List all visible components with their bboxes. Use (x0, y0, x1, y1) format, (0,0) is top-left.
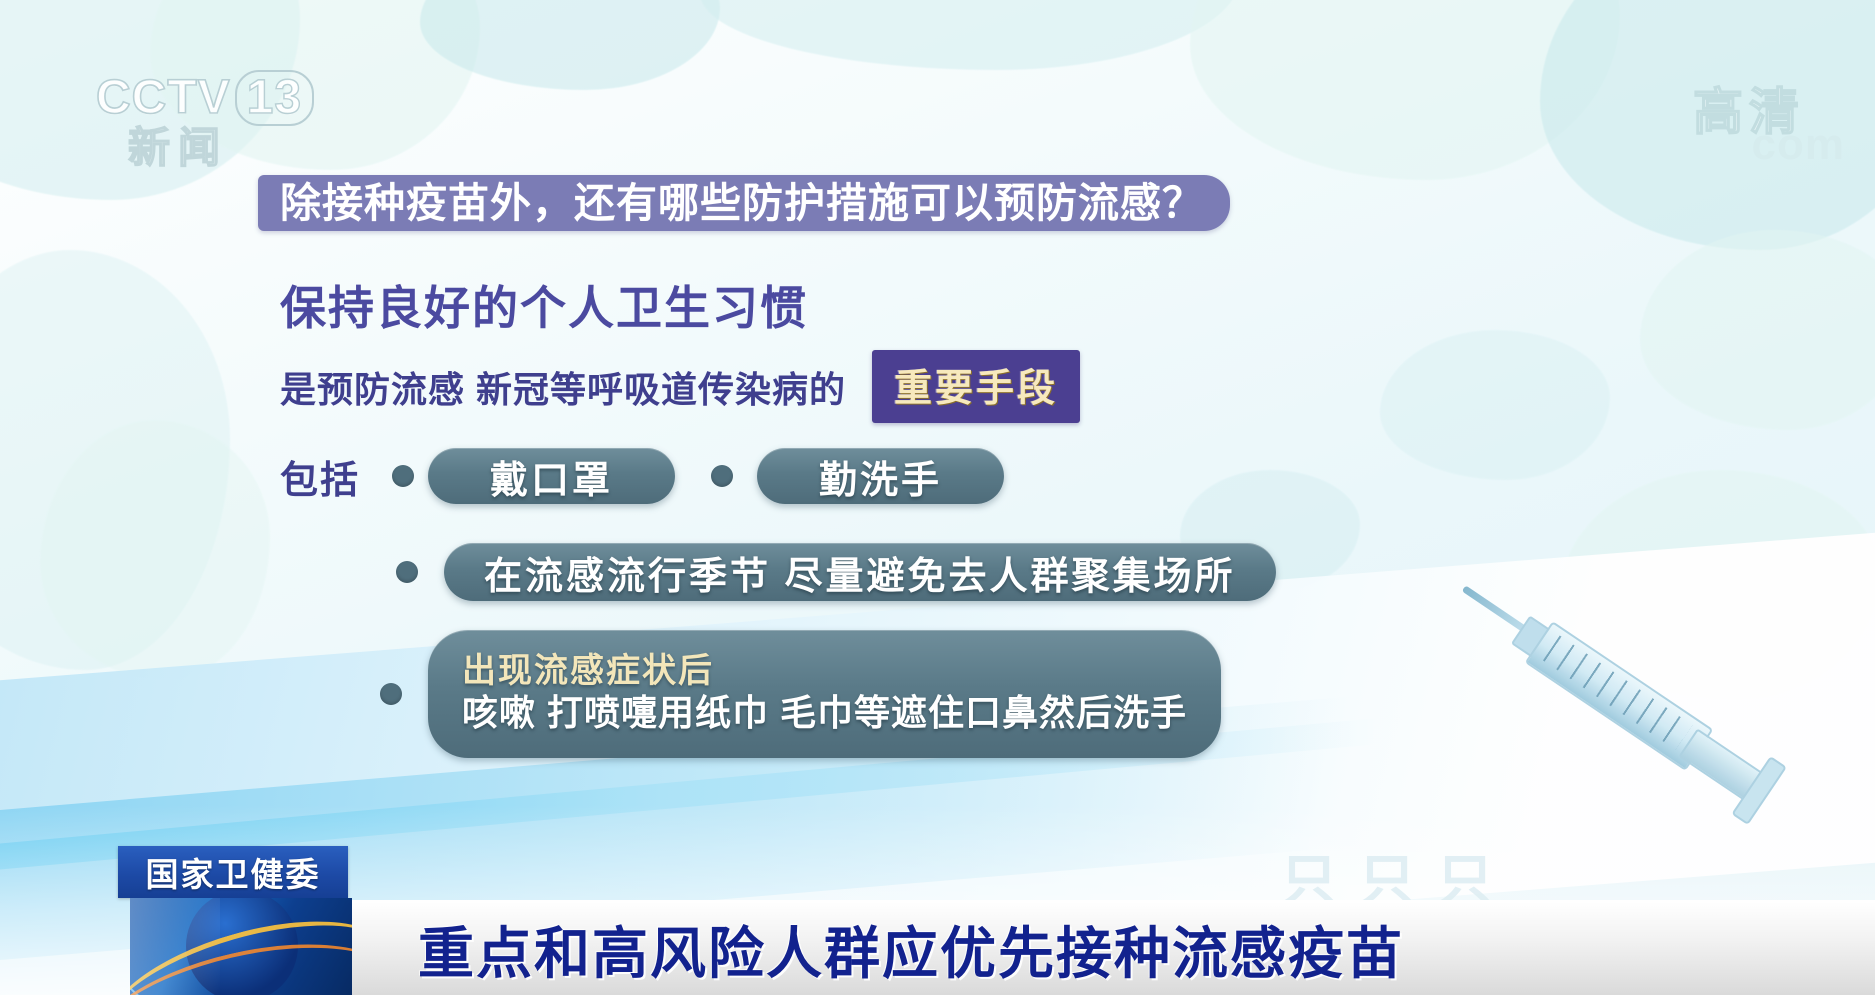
include-label: 包括 (280, 449, 360, 504)
measure-pill-avoid-crowds[interactable]: 在流感流行季节 尽量避免去人群聚集场所 (444, 543, 1276, 601)
measure-pill-avoid-crowds-label: 在流感流行季节 尽量避免去人群聚集场所 (484, 545, 1236, 600)
highlight-chip: 重要手段 (872, 350, 1080, 423)
measure-pill-symptoms-detail: 咳嗽 打喷嚏用纸巾 毛巾等遮住口鼻然后洗手 (462, 691, 1187, 734)
highlight-chip-text: 重要手段 (894, 368, 1058, 410)
lower-third-headline-bar: 重点和高风险人群应优先接种流感疫苗 (352, 900, 1875, 995)
source-tag: 国家卫健委 (118, 846, 348, 898)
bullet-icon (392, 465, 414, 487)
cctv-logo-subtitle: 新闻 (128, 114, 228, 175)
cctv13-logo: CCTV13 新闻 (96, 70, 336, 166)
measure-pill-mask-label: 戴口罩 (490, 449, 613, 504)
measures-row-2: 在流感流行季节 尽量避免去人群聚集场所 (396, 543, 1276, 601)
bullet-icon (711, 465, 733, 487)
measure-pill-mask[interactable]: 戴口罩 (428, 448, 675, 504)
measure-pill-symptoms-title: 出现流感症状后 (462, 652, 714, 691)
news-globe-graphic (130, 898, 352, 995)
lower-third-headline-text: 重点和高风险人群应优先接种流感疫苗 (418, 909, 1404, 990)
bullet-icon (396, 561, 418, 583)
measures-row-3: 出现流感症状后 咳嗽 打喷嚏用纸巾 毛巾等遮住口鼻然后洗手 (380, 630, 1221, 758)
cctv-channel-number: 13 (235, 70, 314, 126)
measures-row-1: 包括 戴口罩 勤洗手 (280, 448, 1004, 504)
bg-blob-8 (1380, 330, 1610, 480)
measure-pill-handwash[interactable]: 勤洗手 (757, 448, 1004, 504)
question-banner-text: 除接种疫苗外，还有哪些防护措施可以预防流感？ (280, 183, 1204, 224)
source-tag-text: 国家卫健委 (146, 848, 321, 896)
question-banner: 除接种疫苗外，还有哪些防护措施可以预防流感？ (258, 175, 1230, 231)
body-subline-row: 是预防流感 新冠等呼吸道传染病的 重要手段 (280, 350, 1080, 423)
bg-blob-11 (40, 420, 270, 680)
bullet-icon (380, 683, 402, 705)
measure-pill-symptoms[interactable]: 出现流感症状后 咳嗽 打喷嚏用纸巾 毛巾等遮住口鼻然后洗手 (428, 630, 1221, 758)
broadcast-screen: 只只只 CCTV13 新闻 高清 com 除接种疫苗外，还有哪些防护措施可以预防… (0, 0, 1875, 995)
measure-pill-handwash-label: 勤洗手 (819, 449, 942, 504)
body-subline: 是预防流感 新冠等呼吸道传染病的 (280, 361, 846, 413)
body-headline: 保持良好的个人卫生习惯 (280, 272, 808, 338)
domain-watermark: com (1752, 120, 1845, 170)
